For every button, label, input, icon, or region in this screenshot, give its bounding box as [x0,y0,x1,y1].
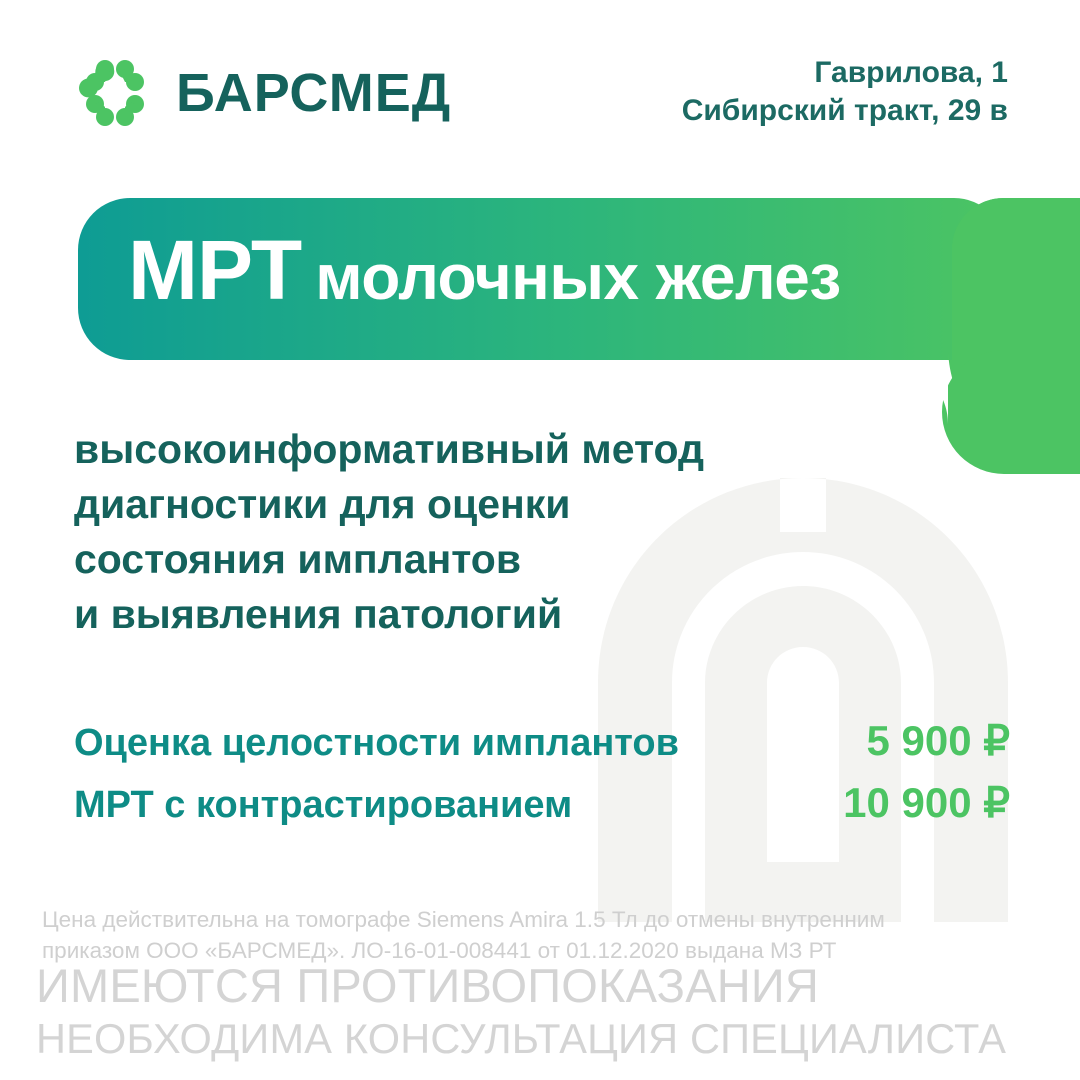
price-row: Оценка целостности имплантов 5 900 ₽ [74,716,1010,778]
fine-print-line-1: Цена действительна на томографе Siemens … [42,905,1042,936]
description-line-3: состояния имплантов [74,532,704,587]
price-value: 10 900 ₽ [843,778,1010,827]
address-line-2: Сибирский тракт, 29 в [682,92,1008,130]
price-label: Оценка целостности имплантов [74,722,679,765]
brand-name: БАРСМЕД [176,66,451,120]
price-label: МРТ с контрастированием [74,784,572,827]
banner-title-main: МРТ [128,223,301,317]
brand-logo[interactable]: БАРСМЕД [78,56,451,130]
disclaimer-line-1: ИМЕЮТСЯ ПРОТИВОПОКАЗАНИЯ [36,962,1050,1009]
address-line-1: Гаврилова, 1 [682,54,1008,92]
price-row: МРТ с контрастированием 10 900 ₽ [74,778,1010,840]
service-description: высокоинформативный метод диагностики дл… [74,422,704,642]
price-list: Оценка целостности имплантов 5 900 ₽ МРТ… [74,716,1010,840]
barsmed-molecule-logo-icon [78,56,152,130]
banner-title-rest: молочных желез [315,241,841,313]
disclaimer-line-2: НЕОБХОДИМА КОНСУЛЬТАЦИЯ СПЕЦИАЛИСТА [36,1018,1050,1060]
description-line-2: диагностики для оценки [74,477,704,532]
description-line-4: и выявления патологий [74,587,704,642]
description-line-1: высокоинформативный метод [74,422,704,477]
banner-title: МРТмолочных желез [128,228,841,312]
price-value: 5 900 ₽ [867,716,1011,765]
legal-disclaimer: ИМЕЮТСЯ ПРОТИВОПОКАЗАНИЯ НЕОБХОДИМА КОНС… [36,962,1050,1060]
fine-print: Цена действительна на томографе Siemens … [42,905,1042,966]
header: БАРСМЕД Гаврилова, 1 Сибирский тракт, 29… [0,0,1080,175]
poster-canvas: МРТмолочных желез [0,0,1080,1080]
clinic-address: Гаврилова, 1 Сибирский тракт, 29 в [682,54,1008,131]
